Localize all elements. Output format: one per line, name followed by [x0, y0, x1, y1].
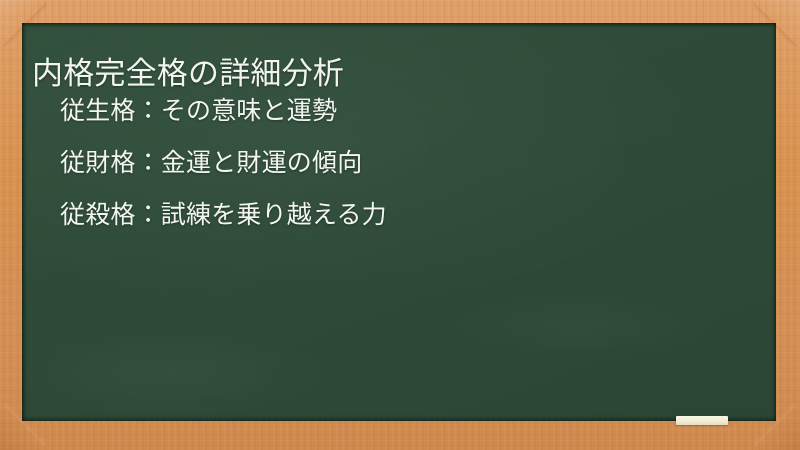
bullet-item-2: 従財格：金運と財運の傾向	[60, 151, 756, 176]
chalkboard-slide: 内格完全格の詳細分析 従生格：その意味と運勢 従財格：金運と財運の傾向 従殺格：…	[0, 0, 800, 450]
bullet-item-1: 従生格：その意味と運勢	[60, 99, 756, 124]
chalkboard-surface: 内格完全格の詳細分析 従生格：その意味と運勢 従財格：金運と財運の傾向 従殺格：…	[22, 23, 776, 421]
chalk-stick-icon	[676, 416, 728, 425]
bullet-item-3: 従殺格：試練を乗り越える力	[60, 203, 756, 228]
slide-title: 内格完全格の詳細分析	[32, 55, 756, 94]
slide-content: 内格完全格の詳細分析 従生格：その意味と運勢 従財格：金運と財運の傾向 従殺格：…	[22, 23, 776, 421]
bullet-list: 従生格：その意味と運勢 従財格：金運と財運の傾向 従殺格：試練を乗り越える力	[60, 99, 756, 228]
